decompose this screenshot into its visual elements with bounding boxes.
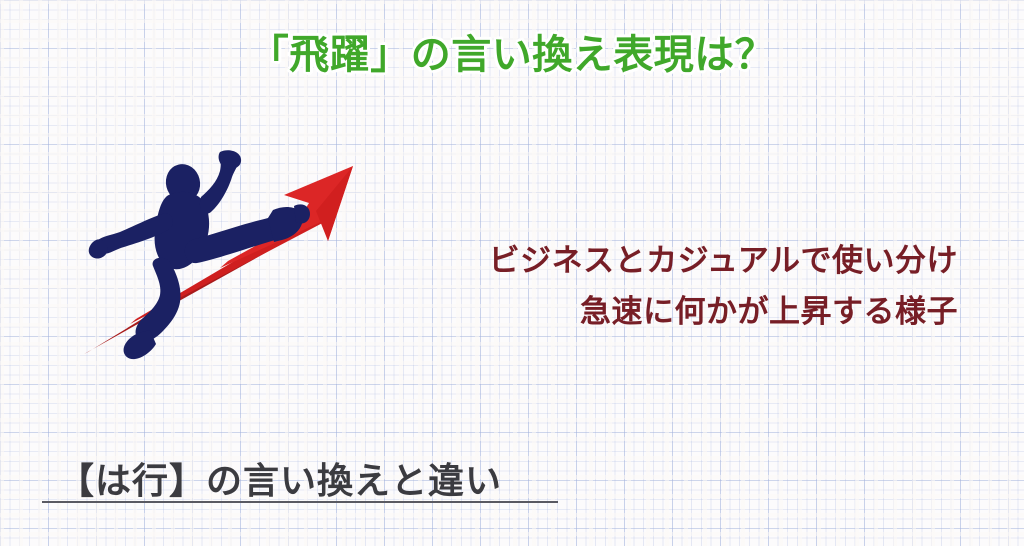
page-title: 「飛躍」の言い換え表現は？ <box>0 30 1024 80</box>
person-silhouette-icon <box>89 150 310 359</box>
caption-block: ビジネスとカジュアルで使い分け 急速に何かが上昇する様子 <box>489 236 958 338</box>
caption-line-2: 急速に何かが上昇する様子 <box>489 287 958 338</box>
bottom-heading-underline <box>42 501 558 503</box>
caption-line-1: ビジネスとカジュアルで使い分け <box>489 236 958 287</box>
bottom-heading: 【は行】の言い換えと違い <box>58 452 502 504</box>
slide-canvas: 「飛躍」の言い換え表現は？ <box>0 0 1024 546</box>
leaping-person-illustration <box>70 148 370 363</box>
